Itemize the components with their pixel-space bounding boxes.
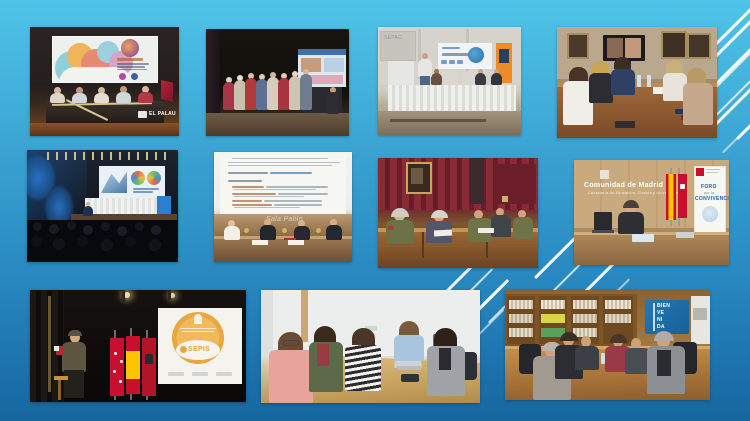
photo-library-meeting-bienvenida-screen[interactable]: BIEN VE NI DA bbox=[505, 290, 710, 400]
auditorium-screen bbox=[99, 166, 165, 198]
photo-comunidad-de-madrid-foro-convivencia[interactable]: Comunidad de Madrid Consejería de Educac… bbox=[574, 160, 729, 265]
photo-speaker-standing-sepac-event[interactable]: SEPAC bbox=[378, 27, 521, 135]
photo-panel-sala-pablo-with-slide[interactable]: Sala Pablo bbox=[214, 152, 352, 262]
photo-group-on-stage-theatre[interactable] bbox=[206, 29, 349, 136]
photo-vi-convencion-panel-el-palau[interactable]: EL PALAU bbox=[30, 27, 179, 136]
photo-collage-slide: EL PALAU bbox=[0, 0, 750, 421]
photo-five-women-meeting-room-laptop[interactable] bbox=[261, 290, 480, 403]
projected-agenda-slide bbox=[220, 154, 346, 214]
photo-meeting-room-wooden-table-portraits[interactable] bbox=[557, 27, 717, 138]
photo-military-officers-panel-red-curtain[interactable] bbox=[378, 158, 538, 268]
photo-speaker-with-flags-sepis-presentation[interactable]: SEPIS bbox=[30, 290, 246, 402]
sepis-slide: SEPIS bbox=[158, 308, 242, 384]
projected-slide bbox=[52, 36, 158, 83]
photo-auditorium-full-audience-blue-lighting[interactable] bbox=[27, 150, 178, 262]
